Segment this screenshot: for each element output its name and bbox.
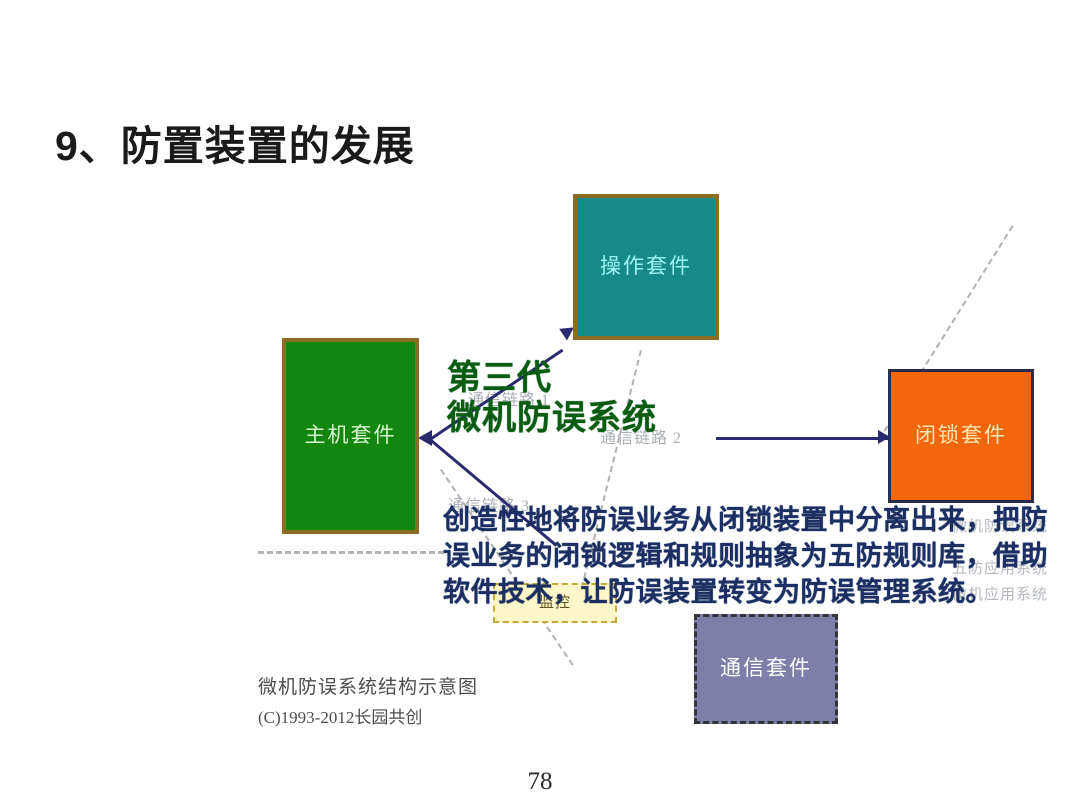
overlay-blue-paragraph: 创造性地将防误业务从闭锁装置中分离出来，把防误业务的闭锁逻辑和规则抽象为五防规则…: [443, 503, 1055, 611]
connector-host-to-lock: [716, 437, 892, 440]
diagram-box-host: 主机套件: [282, 338, 419, 534]
diagram-caption: 微机防误系统结构示意图 (C)1993-2012长园共创: [258, 672, 478, 728]
dashed-line-bottom-left: [258, 551, 444, 554]
slide-canvas: 9、防置装置的发展 通信链路 1 通信链路 2 通信链路 3 微机防误系统 五防…: [0, 0, 1080, 809]
diagram-box-lock: 闭锁套件: [888, 369, 1034, 503]
diagram-box-comm: 通信套件: [694, 614, 838, 724]
overlay-green-heading: 第三代 微机防误系统: [447, 358, 657, 438]
page-number: 78: [0, 768, 1080, 796]
diagram-box-operation: 操作套件: [573, 194, 719, 340]
diagram-caption-sub: (C)1993-2012长园共创: [258, 703, 478, 728]
arrowhead-host-icon: [418, 430, 432, 446]
diagram-caption-main: 微机防误系统结构示意图: [258, 672, 478, 699]
